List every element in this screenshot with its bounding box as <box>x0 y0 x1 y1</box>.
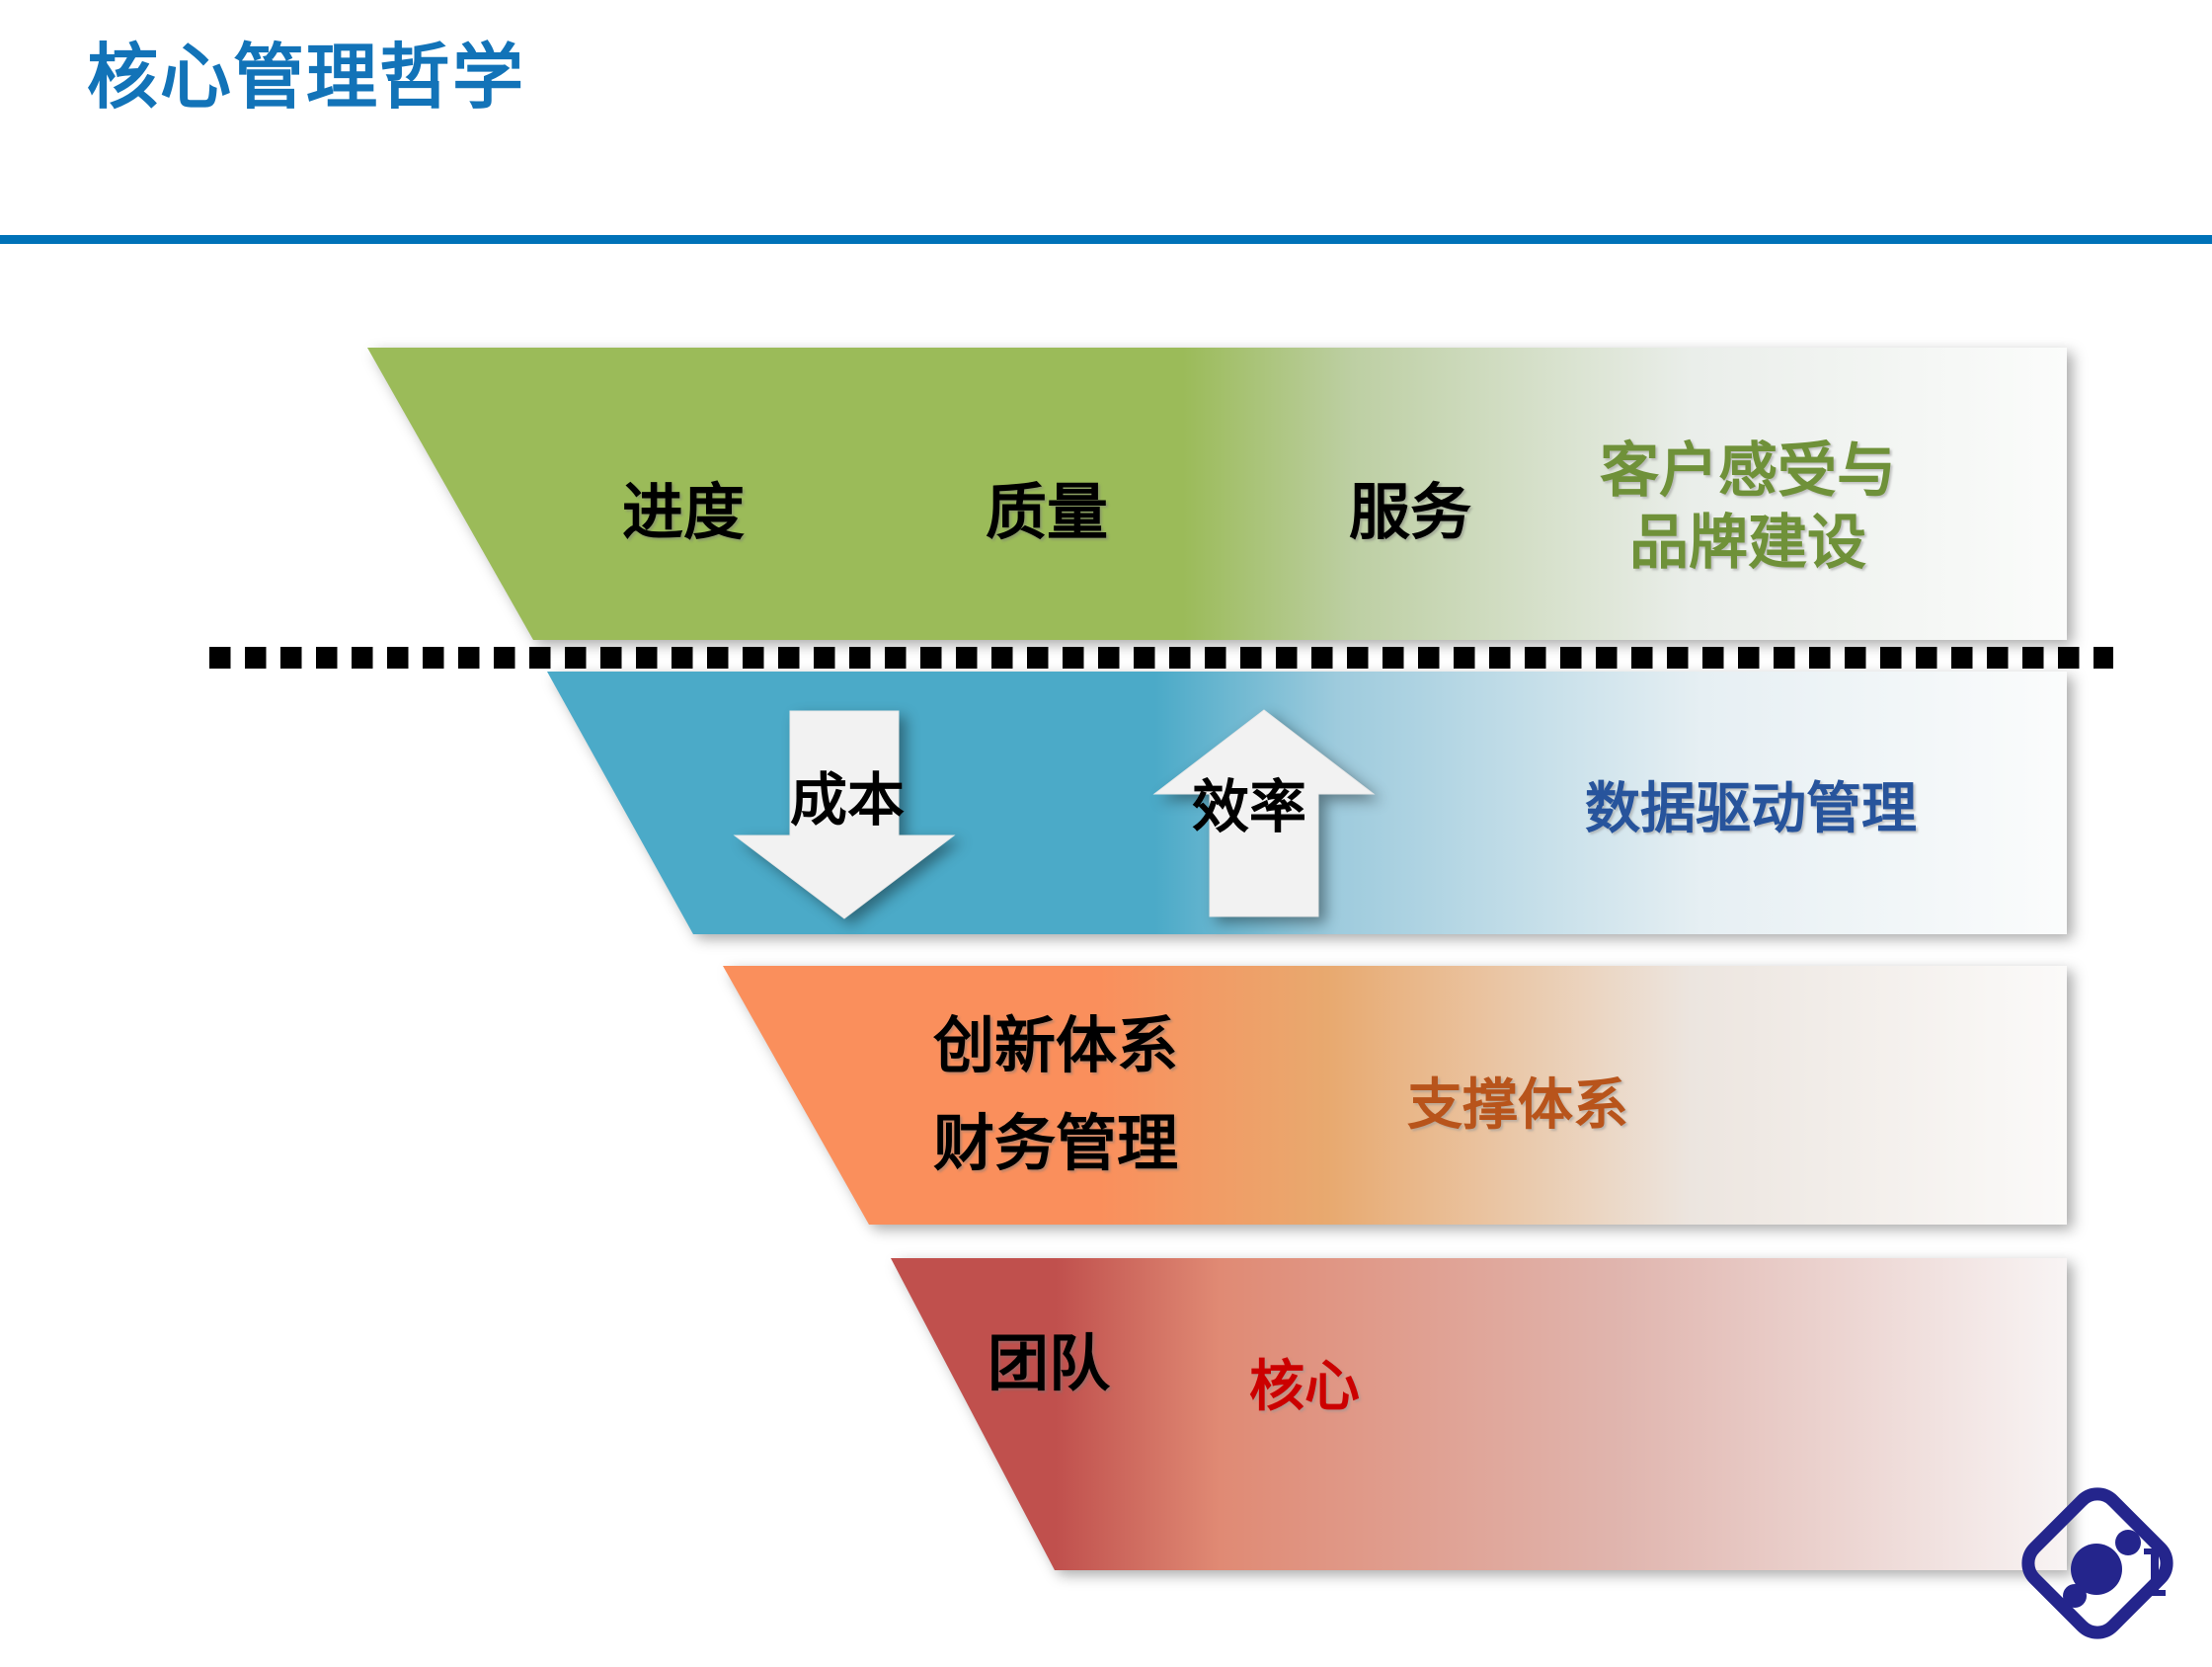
keyword-quality: 质量 <box>986 462 1108 551</box>
orange-inner-line-1: 创新体系 <box>933 1007 1178 1085</box>
blue-side-line-1: 数据驱动管理 <box>1585 775 1917 842</box>
slide-canvas: 核心管理哲学 进度 质量 服务 <box>0 0 2212 1667</box>
green-level-keywords: 进度 质量 服务 <box>622 462 1471 551</box>
cost-arrow-label: 成本 <box>790 754 905 836</box>
funnel-level-orange[interactable] <box>721 964 2069 1229</box>
dotted-separator <box>209 647 2113 669</box>
orange-level-inner-label: 创新体系 财务管理 <box>933 1007 1178 1204</box>
red-inner-line-1: 团队 <box>987 1325 1110 1403</box>
keyword-service: 服务 <box>1349 462 1471 551</box>
funnel-diagram: 进度 质量 服务 客户感受与 品牌建设 <box>0 0 2212 1667</box>
blue-level-side-label: 数据驱动管理 <box>1585 775 1917 842</box>
orange-level-side-label: 支撑体系 <box>1407 1072 1628 1139</box>
green-side-line-1: 客户感受与 <box>1600 435 1896 507</box>
red-side-line-1: 核心 <box>1249 1353 1360 1420</box>
keyword-progress: 进度 <box>622 462 745 551</box>
company-logo-icon <box>2011 1481 2198 1659</box>
efficiency-arrow-label: 效率 <box>1192 760 1306 843</box>
green-side-line-2: 品牌建设 <box>1600 507 1896 579</box>
orange-side-line-1: 支撑体系 <box>1407 1072 1628 1139</box>
red-level-inner-label: 团队 <box>987 1325 1110 1403</box>
funnel-level-red[interactable] <box>889 1256 2069 1574</box>
orange-inner-line-2: 财务管理 <box>933 1105 1178 1183</box>
red-level-side-label: 核心 <box>1249 1353 1360 1420</box>
green-level-side-label: 客户感受与 品牌建设 <box>1600 435 1896 579</box>
